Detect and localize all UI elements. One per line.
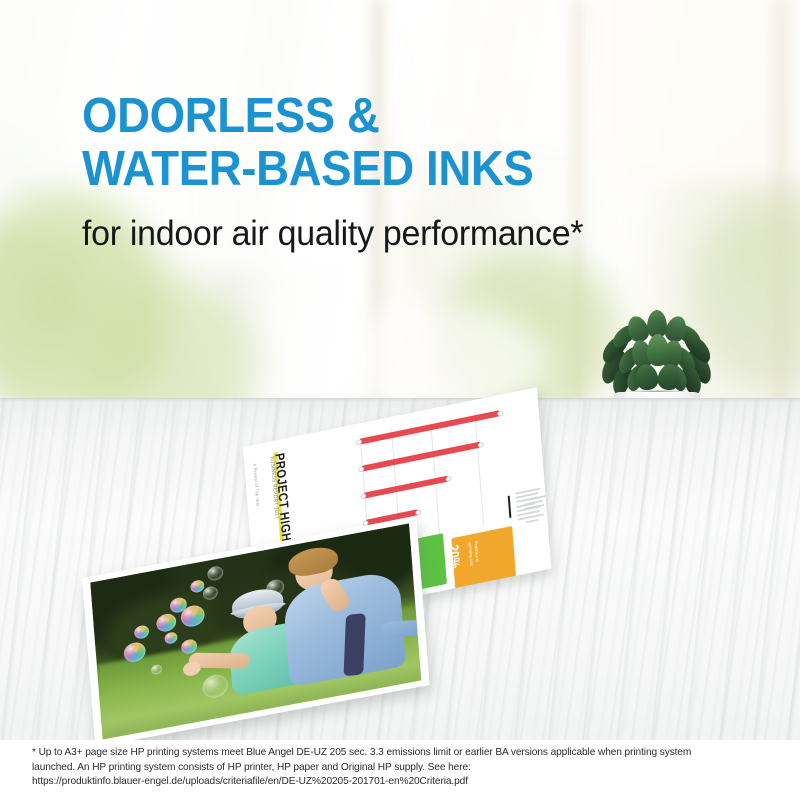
footnote-line-1: * Up to A3+ page size HP printing system… [32, 746, 759, 761]
chart-bar [362, 442, 480, 472]
body-text-block [524, 495, 550, 555]
page-title: ODORLESS &WATER-BASED INKS [82, 90, 696, 196]
advertisement-image: ODORLESS &WATER-BASED INKS for indoor ai… [0, 0, 800, 800]
headline-line-2: WATER-BASED INKS [82, 142, 533, 196]
chart-bar-endpoint [497, 410, 503, 416]
stat-value: 20% [446, 543, 464, 570]
chart-bar-endpoint [478, 442, 484, 448]
leaf-center [647, 334, 669, 366]
footnote-line-3: https://produktinfo.blauer-engel.de/uplo… [32, 775, 759, 790]
child-strap [344, 613, 366, 676]
chart-bar-endpoint [415, 509, 421, 515]
text-block-rule [508, 496, 512, 518]
footnote-line-2: launched. An HP printing system consists… [32, 761, 759, 776]
stat-caption: Reduction in operating cost [467, 541, 482, 581]
brochure-corner-note: A Review Of The Year [252, 463, 263, 540]
footnote-band: * Up to A3+ page size HP printing system… [0, 740, 800, 800]
child-arm [381, 619, 421, 637]
headline-line-1: ODORLESS & [82, 89, 380, 143]
desk-edge [0, 398, 800, 401]
chart-gridline [474, 412, 484, 525]
page-subtitle: for indoor air quality performance* [82, 214, 761, 254]
chart-bar-endpoint [445, 476, 451, 482]
